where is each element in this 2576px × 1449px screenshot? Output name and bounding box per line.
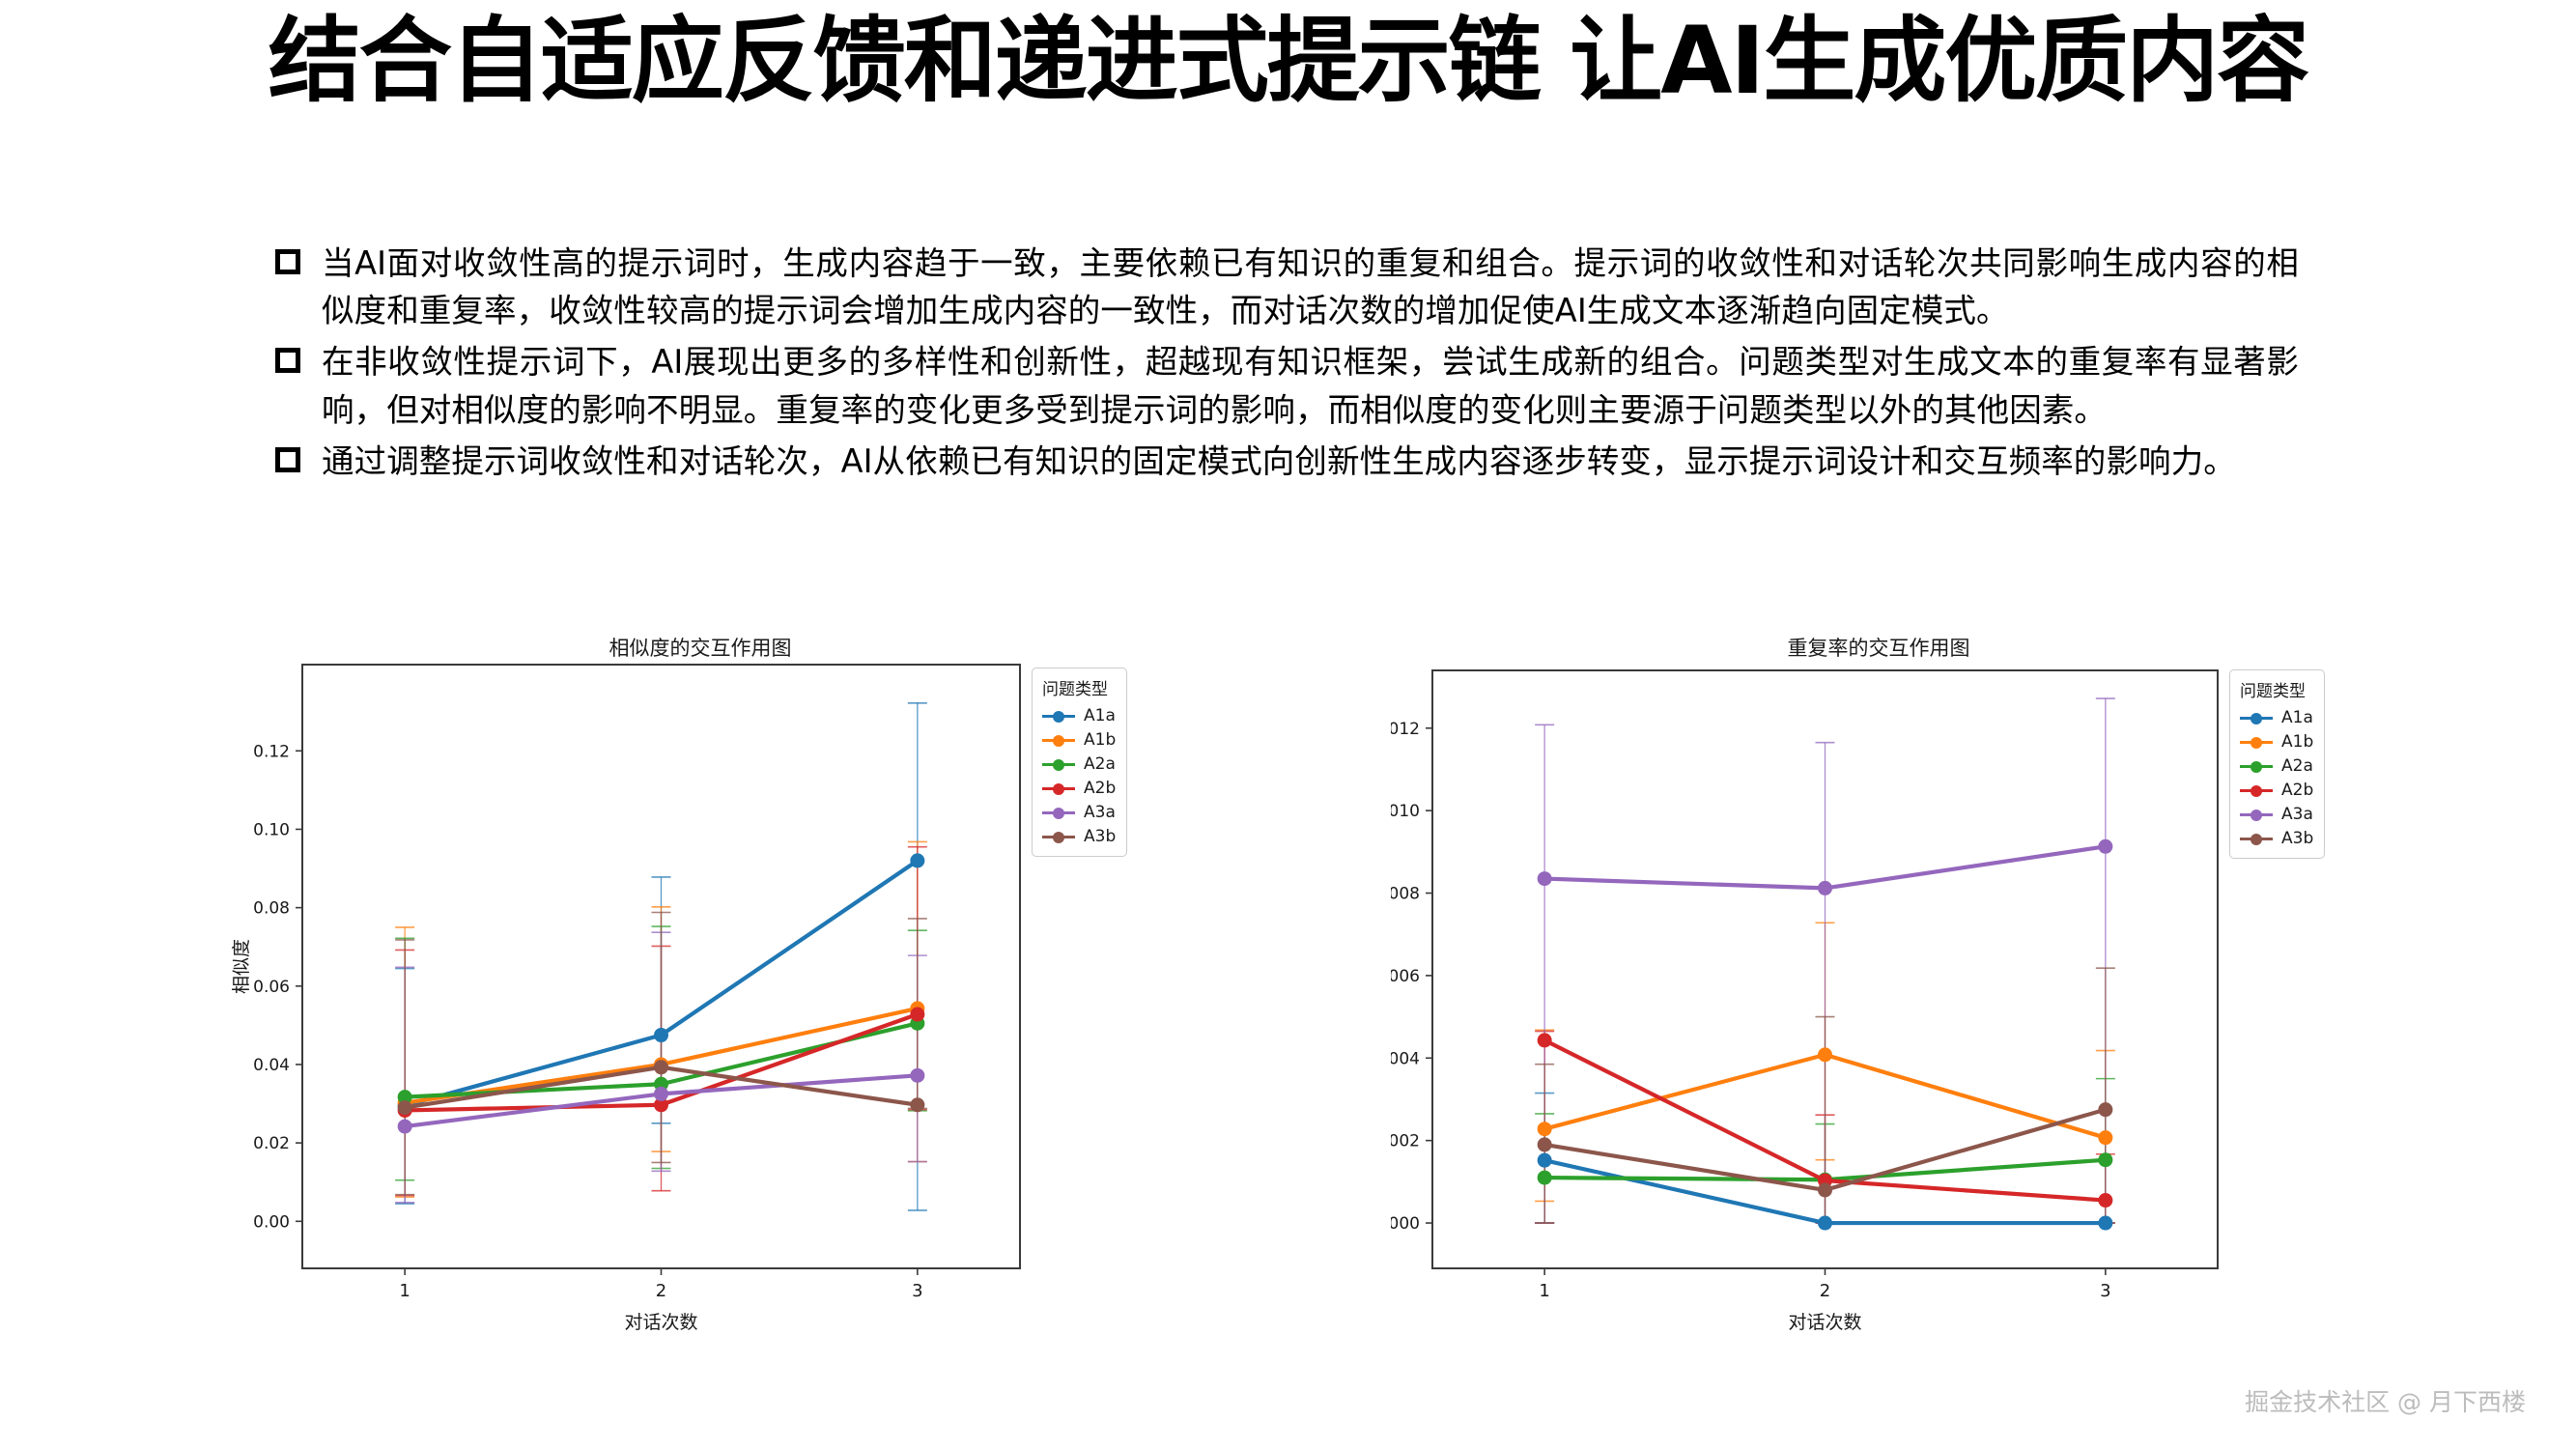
svg-text:0.02: 0.02 xyxy=(253,1134,290,1153)
legend-item-A2a[interactable]: A2a xyxy=(1042,752,1116,776)
chart-legend: 问题类型 A1aA1bA2aA2bA3aA3b xyxy=(2229,669,2325,859)
legend-title: 问题类型 xyxy=(2240,677,2313,701)
legend-item-A3b[interactable]: A3b xyxy=(1042,824,1116,848)
svg-text:0.002: 0.002 xyxy=(1391,1132,1420,1151)
legend-item-A2b[interactable]: A2b xyxy=(1042,776,1116,800)
svg-text:对话次数: 对话次数 xyxy=(624,1312,697,1333)
svg-text:1: 1 xyxy=(1539,1281,1549,1301)
svg-text:0.08: 0.08 xyxy=(253,899,290,919)
svg-text:相似度: 相似度 xyxy=(231,939,252,994)
legend-item-A1a[interactable]: A1a xyxy=(1042,703,1116,727)
legend-marker-icon xyxy=(1042,781,1075,795)
svg-text:对话次数: 对话次数 xyxy=(1788,1312,1861,1333)
svg-text:0.00: 0.00 xyxy=(253,1212,290,1232)
legend-marker-icon xyxy=(2240,711,2273,724)
hollow-square-bullet-icon xyxy=(275,348,300,373)
legend-label: A3b xyxy=(1084,827,1116,846)
legend-items: A1aA1bA2aA2bA3aA3b xyxy=(2240,705,2313,850)
legend-item-A3a[interactable]: A3a xyxy=(2240,802,2313,826)
bullet-text: 通过调整提示词收敛性和对话轮次，AI从依赖已有知识的固定模式向创新性生成内容逐步… xyxy=(322,438,2299,485)
svg-text:0.012: 0.012 xyxy=(1391,720,1420,739)
legend-marker-icon xyxy=(1042,709,1075,723)
svg-text:0.10: 0.10 xyxy=(253,820,290,839)
legend-item-A3b[interactable]: A3b xyxy=(2240,826,2313,850)
svg-text:0.008: 0.008 xyxy=(1391,885,1420,904)
hollow-square-bullet-icon xyxy=(275,249,300,274)
legend-label: A3a xyxy=(1084,803,1116,822)
svg-text:1: 1 xyxy=(399,1281,410,1301)
list-item: 当AI面对收敛性高的提示词时，生成内容趋于一致，主要依赖已有知识的重复和组合。提… xyxy=(275,240,2299,334)
legend-marker-icon xyxy=(2240,735,2273,749)
legend-label: A1a xyxy=(2281,708,2313,727)
svg-text:2: 2 xyxy=(1820,1281,1830,1301)
repetition-interaction-chart: 重复率的交互作用图 0.0000.0020.0040.0060.0080.010… xyxy=(1391,633,2366,1352)
legend-marker-icon xyxy=(2240,832,2273,845)
legend-label: A2a xyxy=(2281,756,2313,776)
page-title: 结合自适应反馈和递进式提示链 让AI生成优质内容 xyxy=(0,10,2576,114)
legend-title: 问题类型 xyxy=(1042,675,1116,699)
legend-label: A1b xyxy=(2281,732,2313,752)
legend-marker-icon xyxy=(1042,830,1075,843)
legend-label: A3b xyxy=(2281,829,2313,848)
svg-text:0.12: 0.12 xyxy=(253,742,290,761)
legend-marker-icon xyxy=(2240,759,2273,773)
legend-item-A1b[interactable]: A1b xyxy=(1042,727,1116,752)
svg-text:3: 3 xyxy=(912,1281,922,1301)
svg-text:3: 3 xyxy=(2100,1281,2110,1301)
chart-canvas: 0.0000.0020.0040.0060.0080.0100.012123对话… xyxy=(1391,633,2366,1352)
watermark: 掘金技术社区 @ 月下西楼 xyxy=(2245,1383,2526,1418)
legend-item-A1a[interactable]: A1a xyxy=(2240,705,2313,729)
legend-marker-icon xyxy=(2240,783,2273,797)
svg-text:0.04: 0.04 xyxy=(253,1056,290,1075)
svg-text:0.006: 0.006 xyxy=(1391,967,1420,986)
legend-label: A1b xyxy=(1084,730,1116,750)
bullet-text: 当AI面对收敛性高的提示词时，生成内容趋于一致，主要依赖已有知识的重复和组合。提… xyxy=(322,240,2299,334)
legend-label: A2a xyxy=(1084,754,1116,774)
legend-label: A2b xyxy=(1084,779,1116,798)
legend-item-A2a[interactable]: A2a xyxy=(2240,753,2313,778)
svg-text:0.06: 0.06 xyxy=(253,978,290,997)
similarity-interaction-chart: 相似度的交互作用图 0.000.020.040.060.080.100.1212… xyxy=(222,633,1178,1352)
svg-text:0.010: 0.010 xyxy=(1391,802,1420,821)
chart-legend: 问题类型 A1aA1bA2aA2bA3aA3b xyxy=(1032,668,1127,857)
legend-label: A2b xyxy=(2281,781,2313,800)
list-item: 通过调整提示词收敛性和对话轮次，AI从依赖已有知识的固定模式向创新性生成内容逐步… xyxy=(275,438,2299,485)
legend-item-A3a[interactable]: A3a xyxy=(1042,800,1116,824)
bullet-list: 当AI面对收敛性高的提示词时，生成内容趋于一致，主要依赖已有知识的重复和组合。提… xyxy=(275,240,2299,489)
legend-marker-icon xyxy=(2240,808,2273,821)
legend-label: A3a xyxy=(2281,805,2313,824)
svg-text:0.004: 0.004 xyxy=(1391,1049,1420,1068)
legend-marker-icon xyxy=(1042,757,1075,771)
legend-items: A1aA1bA2aA2bA3aA3b xyxy=(1042,703,1116,848)
legend-marker-icon xyxy=(1042,733,1075,747)
svg-text:0.000: 0.000 xyxy=(1391,1214,1420,1234)
hollow-square-bullet-icon xyxy=(275,447,300,472)
bullet-text: 在非收敛性提示词下，AI展现出更多的多样性和创新性，超越现有知识框架，尝试生成新… xyxy=(322,338,2299,433)
legend-marker-icon xyxy=(1042,806,1075,819)
list-item: 在非收敛性提示词下，AI展现出更多的多样性和创新性，超越现有知识框架，尝试生成新… xyxy=(275,338,2299,433)
svg-text:2: 2 xyxy=(656,1281,666,1301)
legend-label: A1a xyxy=(1084,706,1116,725)
legend-item-A1b[interactable]: A1b xyxy=(2240,729,2313,753)
legend-item-A2b[interactable]: A2b xyxy=(2240,778,2313,802)
